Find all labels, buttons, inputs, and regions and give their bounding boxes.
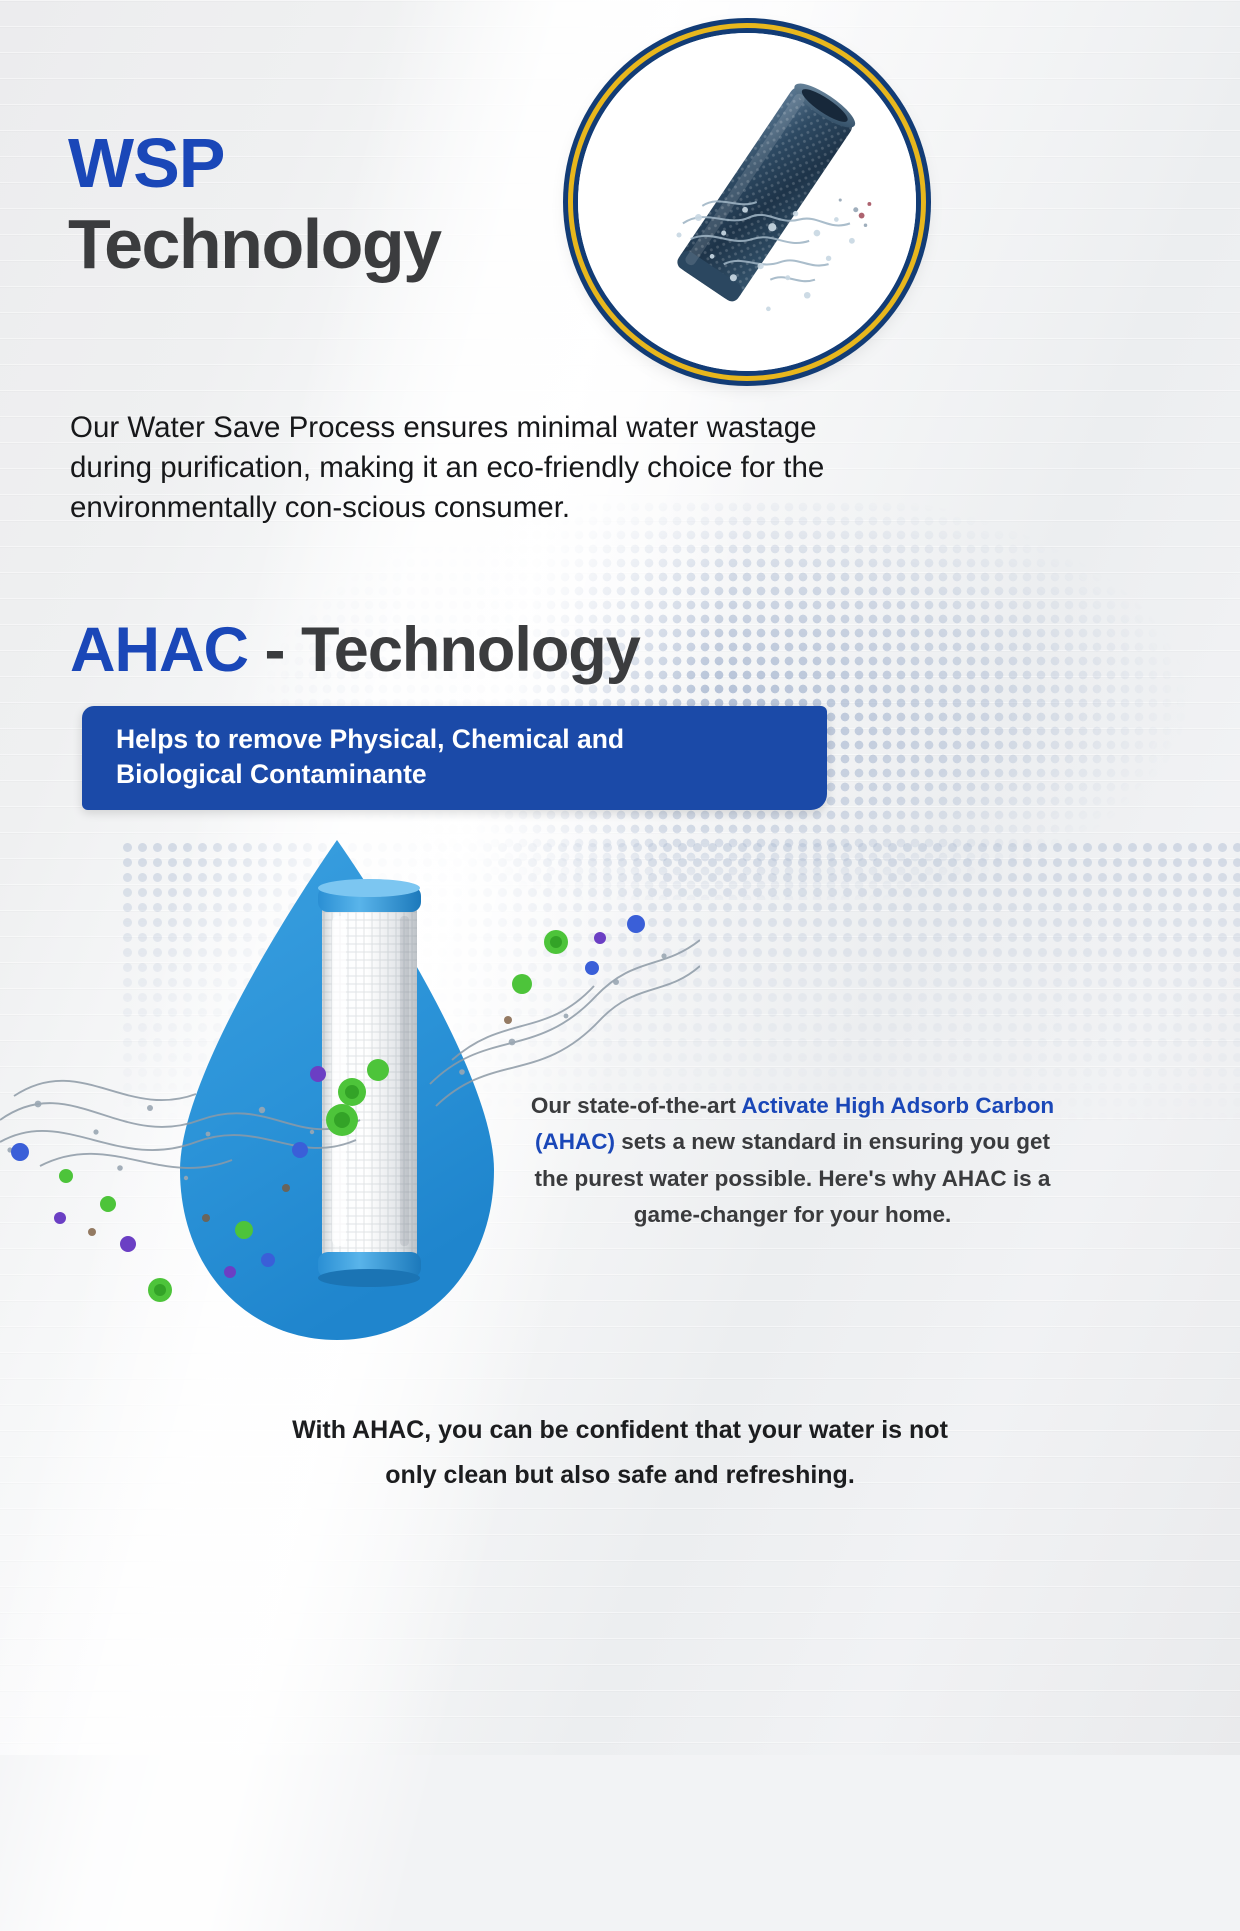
banner-line-1: Helps to remove Physical, Chemical and	[116, 722, 801, 757]
product-badge-circle	[573, 28, 921, 376]
ahac-heading-rest: - Technology	[248, 615, 640, 685]
carbon-filter-cartridge-icon	[578, 33, 916, 371]
tagline-line-2: only clean but also safe and refreshing.	[70, 1453, 1170, 1498]
filter-cartridge	[318, 879, 421, 1287]
title-line-wsp: WSP	[68, 128, 441, 198]
banner-line-2: Biological Contaminante	[116, 757, 801, 792]
tagline-line-1: With AHAC, you can be confident that you…	[70, 1408, 1170, 1453]
intro-paragraph: Our Water Save Process ensures minimal w…	[70, 408, 870, 528]
ahac-para-part1: Our state-of-the-art	[531, 1093, 741, 1118]
ahac-heading: AHAC - Technology	[70, 614, 640, 686]
footer-tagline: With AHAC, you can be confident that you…	[70, 1408, 1170, 1497]
page-title: WSP Technology	[68, 128, 441, 285]
ahac-heading-highlight: AHAC	[70, 615, 248, 685]
ahac-description-paragraph: Our state-of-the-art Activate High Adsor…	[520, 1088, 1065, 1234]
contaminants-banner: Helps to remove Physical, Chemical and B…	[82, 706, 827, 810]
title-line-technology: Technology	[68, 204, 441, 285]
